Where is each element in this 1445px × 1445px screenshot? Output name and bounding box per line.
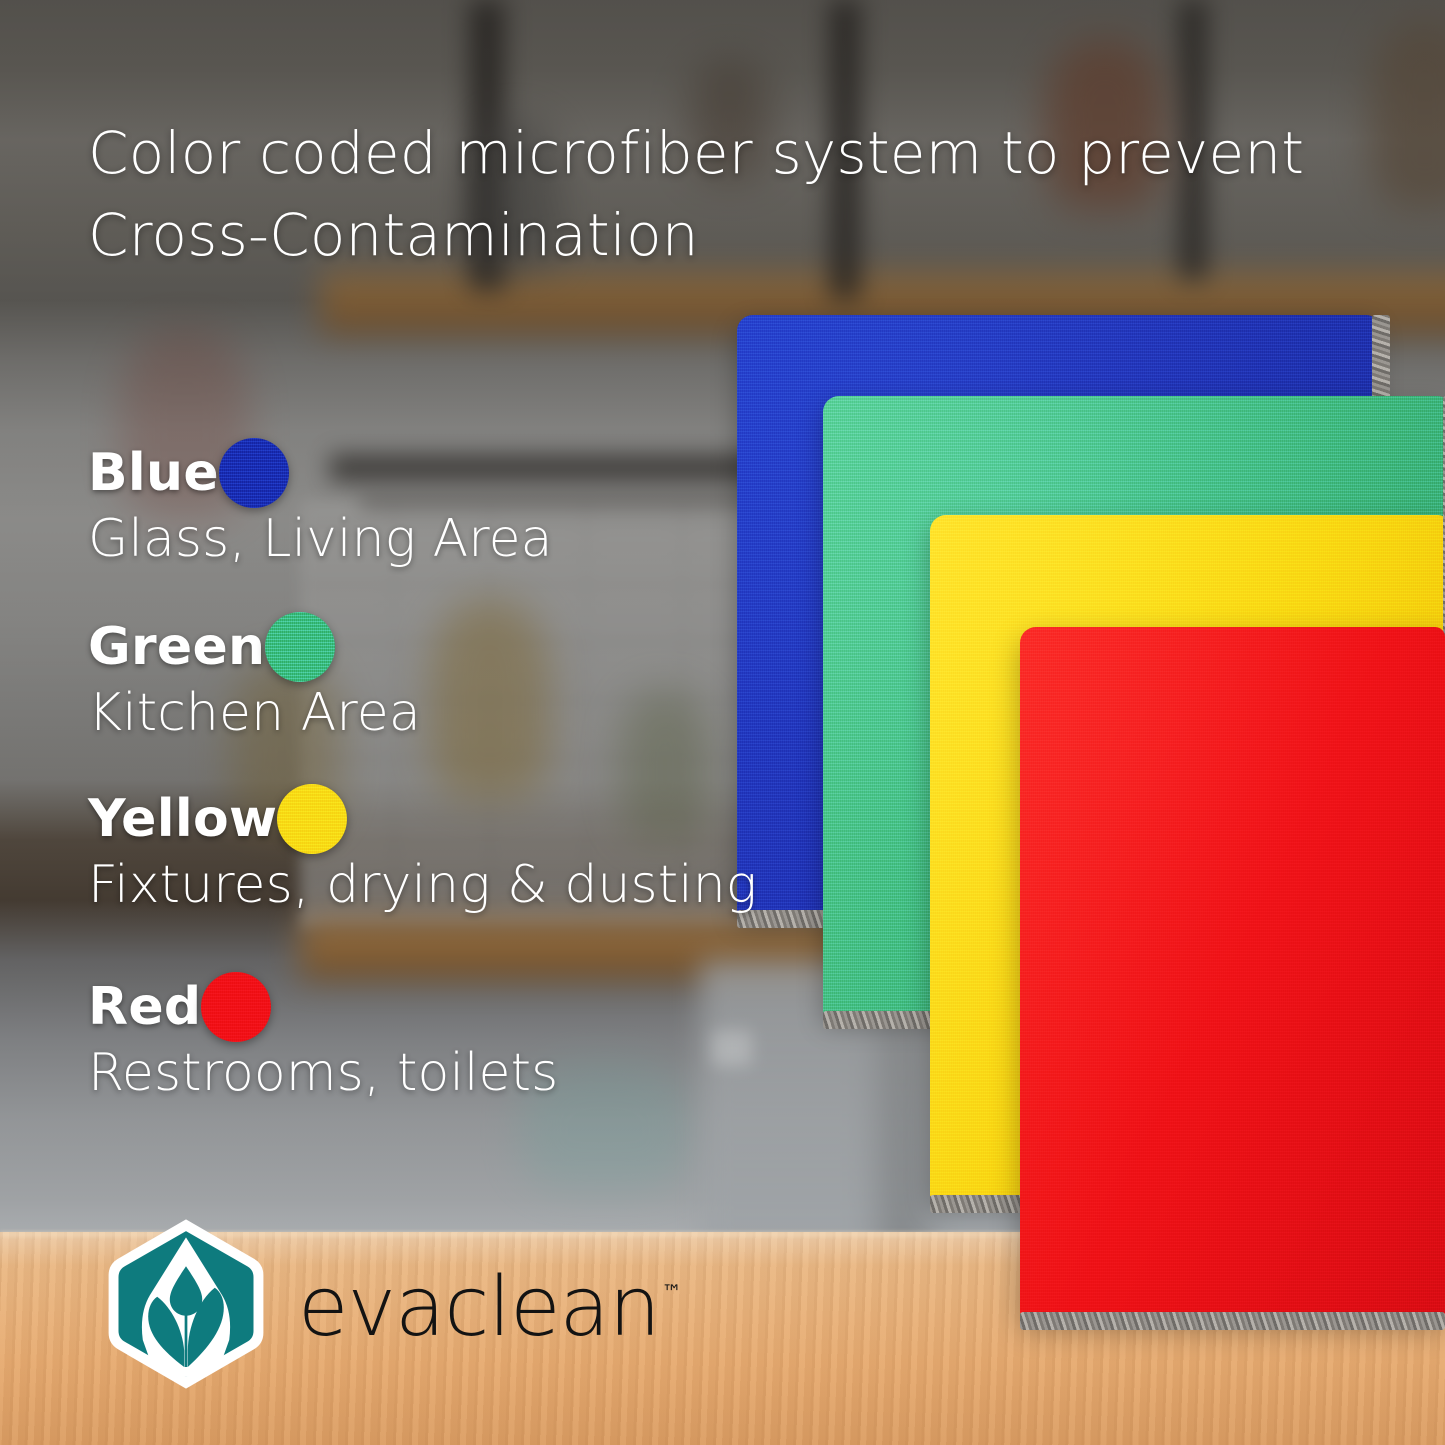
legend-color-description: Kitchen Area [88, 680, 768, 746]
cloth-red [1020, 627, 1445, 1317]
brand-logo: evaclean™ [96, 1214, 680, 1394]
legend-color-name: Blue [88, 444, 219, 502]
marketing-image: Color coded microfiber system to prevent… [0, 0, 1445, 1445]
headline: Color coded microfiber system to prevent… [88, 112, 1378, 276]
legend-color-name: Green [88, 618, 265, 676]
legend-color-description: Glass, Living Area [88, 506, 768, 572]
legend-item-red: Red Restrooms, toilets [88, 972, 768, 1106]
legend-color-name: Red [88, 978, 201, 1036]
color-dot-icon [277, 784, 347, 854]
legend-item-yellow: Yellow Fixtures, drying & dusting [88, 784, 768, 918]
logo-wordmark-group: evaclean™ [298, 1263, 680, 1345]
legend-color-description: Restrooms, toilets [88, 1040, 768, 1106]
evaclean-hexagon-leaf-droplet-icon [96, 1214, 276, 1394]
color-dot-icon [201, 972, 271, 1042]
trademark-symbol: ™ [662, 1280, 682, 1304]
legend-head: Red [88, 972, 768, 1042]
color-dot-icon [219, 438, 289, 508]
legend-item-green: Green Kitchen Area [88, 612, 768, 746]
legend-color-description: Fixtures, drying & dusting [88, 852, 768, 918]
legend-head: Green [88, 612, 768, 682]
serged-edge-bottom [1020, 1312, 1445, 1330]
legend-item-blue: Blue Glass, Living Area [88, 438, 768, 572]
legend-head: Blue [88, 438, 768, 508]
legend-color-name: Yellow [88, 790, 277, 848]
color-dot-icon [265, 612, 335, 682]
logo-wordmark: evaclean [298, 1260, 660, 1355]
legend-head: Yellow [88, 784, 768, 854]
cloth-texture [1020, 627, 1445, 1317]
